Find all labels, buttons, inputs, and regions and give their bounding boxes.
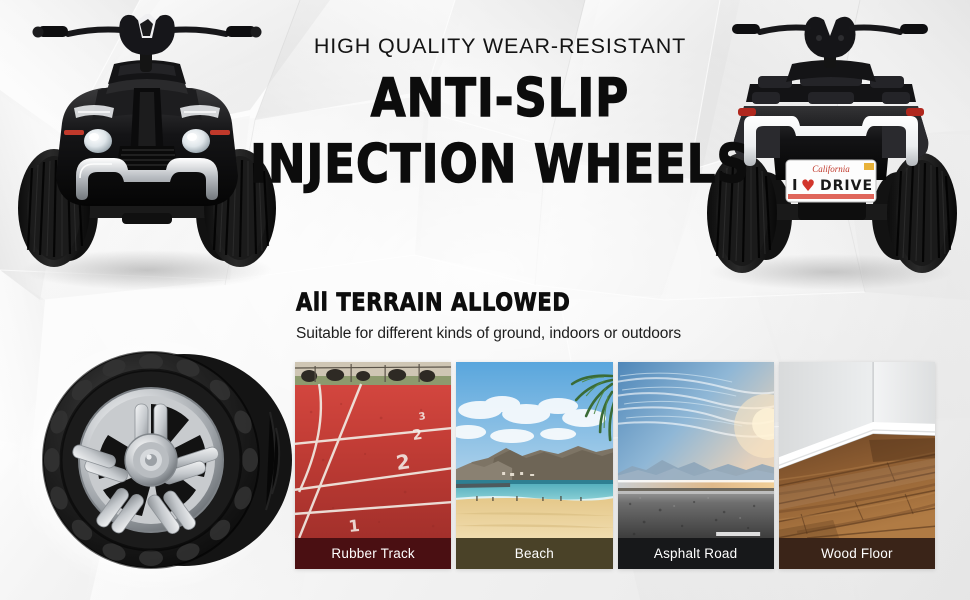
- terrain-caption-rubber-track: Rubber Track: [295, 538, 451, 569]
- license-plate: California I ♥ DRIVE: [786, 160, 876, 202]
- terrain-tile-beach: Beach: [456, 362, 612, 569]
- title-line-2: INJECTION WHEELS: [250, 139, 750, 190]
- terrain-tile-rubber-track: 3 2 2 1 Rubber Track: [295, 362, 451, 569]
- wheel-closeup-photo: [8, 332, 298, 597]
- title-wrap: ANTI-SLIP INJECTION WHEELS: [250, 73, 750, 183]
- terrain-heading: All TERRAIN ALLOWED: [296, 288, 681, 316]
- svg-text:♥: ♥: [801, 176, 815, 195]
- wood-floor-image: [779, 362, 935, 538]
- headline-block: HIGH QUALITY WEAR-RESISTANT ANTI-SLIP IN…: [250, 34, 750, 183]
- svg-text:California: California: [812, 164, 850, 174]
- terrain-heading-block: All TERRAIN ALLOWED Suitable for differe…: [296, 288, 681, 343]
- terrain-caption-beach: Beach: [456, 538, 612, 569]
- atv-front-photo: [2, 8, 292, 293]
- terrain-tile-asphalt-road: Asphalt Road: [618, 362, 774, 569]
- title-line-1: ANTI-SLIP: [250, 73, 750, 124]
- terrain-tile-wood-floor: Wood Floor: [779, 362, 935, 569]
- asphalt-road-image: [618, 362, 774, 538]
- terrain-caption-asphalt-road: Asphalt Road: [618, 538, 774, 569]
- rubber-track-image: 3 2 2 1: [295, 362, 451, 538]
- svg-text:I: I: [792, 176, 798, 194]
- beach-image: [456, 362, 612, 538]
- terrain-subheading: Suitable for different kinds of ground, …: [296, 325, 681, 343]
- product-banner: California I ♥ DRIVE: [0, 0, 970, 600]
- eyebrow-text: HIGH QUALITY WEAR-RESISTANT: [250, 34, 750, 59]
- svg-text:1: 1: [348, 516, 361, 536]
- svg-text:DRIVE: DRIVE: [820, 178, 873, 194]
- terrain-tile-list: 3 2 2 1 Rubber Track: [295, 362, 935, 569]
- terrain-caption-wood-floor: Wood Floor: [779, 538, 935, 569]
